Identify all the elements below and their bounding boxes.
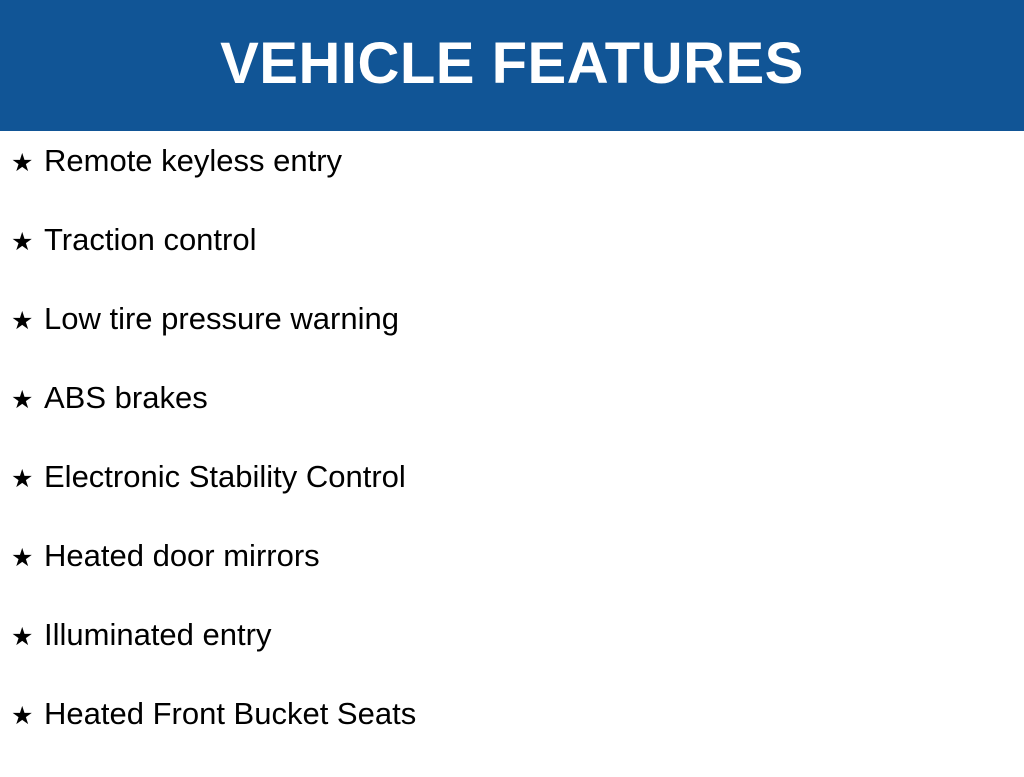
feature-label: Heated door mirrors	[44, 540, 320, 571]
star-icon: ★	[11, 621, 44, 652]
list-item: ★ Heated Front Bucket Seats	[0, 698, 1024, 777]
list-item: ★ Low tire pressure warning	[0, 303, 1024, 382]
feature-label: Low tire pressure warning	[44, 303, 399, 334]
vehicle-features-list: ★ Remote keyless entry ★ Traction contro…	[0, 131, 1024, 777]
list-item: ★ Electronic Stability Control	[0, 461, 1024, 540]
feature-label: Electronic Stability Control	[44, 461, 406, 492]
feature-label: Traction control	[44, 224, 257, 255]
list-item: ★ Traction control	[0, 224, 1024, 303]
star-icon: ★	[11, 226, 44, 257]
feature-label: ABS brakes	[44, 382, 208, 413]
list-item: ★ Heated door mirrors	[0, 540, 1024, 619]
feature-label: Heated Front Bucket Seats	[44, 698, 416, 729]
header-banner: VEHICLE FEATURES	[0, 0, 1024, 131]
page-title: VEHICLE FEATURES	[220, 35, 804, 93]
star-icon: ★	[11, 542, 44, 573]
list-item: ★ Remote keyless entry	[0, 145, 1024, 224]
list-item: ★ ABS brakes	[0, 382, 1024, 461]
star-icon: ★	[11, 463, 44, 494]
star-icon: ★	[11, 700, 44, 731]
star-icon: ★	[11, 305, 44, 336]
star-icon: ★	[11, 384, 44, 415]
vehicle-features-page: VEHICLE FEATURES ★ Remote keyless entry …	[0, 0, 1024, 768]
feature-label: Remote keyless entry	[44, 145, 342, 176]
star-icon: ★	[11, 147, 44, 178]
list-item: ★ Illuminated entry	[0, 619, 1024, 698]
feature-label: Illuminated entry	[44, 619, 271, 650]
